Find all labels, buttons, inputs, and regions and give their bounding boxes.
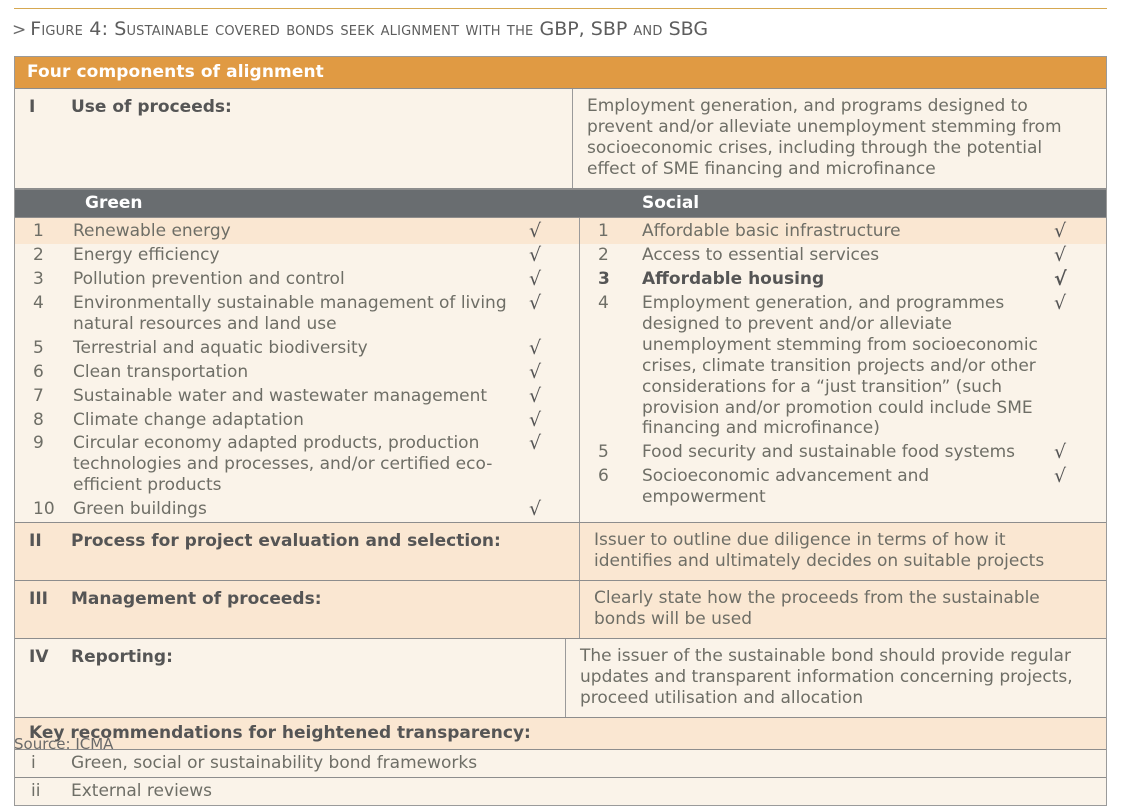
list-item-label: Access to essential services (642, 245, 1048, 266)
list-item-label: Climate change adaptation (73, 410, 529, 431)
figure-page: >Figure 4:Sustainable covered bonds seek… (0, 0, 1127, 762)
list-item: 2Energy efficiency√ (15, 244, 579, 268)
list-item-number: 2 (15, 245, 73, 266)
list-item-label: Terrestrial and aquatic biodiversity (73, 338, 529, 359)
checkmark-icon: √ (1048, 221, 1100, 242)
list-item: 7Sustainable water and wastewater manage… (15, 385, 579, 409)
list-item-label: Food security and sustainable food syste… (642, 442, 1048, 463)
list-item: 9Circular economy adapted products, prod… (15, 432, 579, 498)
list-item-label: Energy efficiency (73, 245, 529, 266)
checkmark-icon: √ (529, 269, 569, 290)
list-item-label: Clean transportation (73, 362, 529, 383)
list-item-label: Pollution prevention and control (73, 269, 529, 290)
checkmark-icon: √ (529, 221, 569, 242)
key-recommendation-i-text: Green, social or sustainability bond fra… (71, 753, 1106, 773)
list-item-number: 10 (15, 499, 73, 520)
key-recommendation-item-ii: ii External reviews (15, 778, 1106, 805)
list-item-number: 6 (15, 362, 73, 383)
list-item-label: Socioeconomic advancement and empowermen… (642, 466, 1048, 508)
list-item: 6Clean transportation√ (15, 361, 579, 385)
list-item: 3Pollution prevention and control√ (15, 268, 579, 292)
category-header-social: Social (580, 190, 1106, 217)
list-item-number: 3 (580, 269, 642, 290)
list-item-number: 6 (580, 466, 642, 487)
social-items-column: 1Affordable basic infrastructure√2Access… (580, 218, 1106, 523)
list-item-label: Affordable housing (642, 269, 1048, 290)
figure-caption: >Figure 4:Sustainable covered bonds seek… (12, 18, 1112, 40)
list-item: 4Employment generation, and programmes d… (580, 292, 1106, 442)
section-II-left: II Process for project evaluation and se… (15, 523, 580, 580)
key-recommendation-ii-text: External reviews (71, 781, 1106, 801)
section-I-right: Employment generation, and programs desi… (573, 89, 1106, 188)
section-III-left: III Management of proceeds: (15, 581, 580, 638)
table-row-section-IV: IV Reporting: The issuer of the sustaina… (15, 639, 1106, 717)
list-item-number: 7 (15, 386, 73, 407)
checkmark-icon: √ (529, 433, 569, 454)
list-item: 4Environmentally sustainable management … (15, 292, 579, 337)
key-recommendation-item-i: i Green, social or sustainability bond f… (15, 750, 1106, 778)
list-item: 8Climate change adaptation√ (15, 409, 579, 433)
section-IV-right: The issuer of the sustainable bond shoul… (566, 639, 1106, 717)
table-row-section-III: III Management of proceeds: Clearly stat… (15, 581, 1106, 639)
list-item-label: Employment generation, and programmes de… (642, 293, 1048, 440)
list-item-number: 1 (15, 221, 73, 242)
category-items-row: 1Renewable energy√2Energy efficiency√3Po… (15, 218, 1106, 524)
checkmark-icon: √ (529, 499, 569, 520)
section-II-description: Issuer to outline due diligence in terms… (580, 523, 1103, 580)
top-divider-rule (14, 8, 1107, 9)
list-item: 5Terrestrial and aquatic biodiversity√ (15, 337, 579, 361)
list-item: 6Socioeconomic advancement and empowerme… (580, 465, 1106, 510)
category-header-row: Green Social (15, 189, 1106, 218)
section-IV-description: The issuer of the sustainable bond shoul… (566, 639, 1106, 717)
category-header-green: Green (15, 190, 580, 217)
section-IV-left: IV Reporting: (15, 639, 566, 717)
source-note: Source: ICMA (14, 735, 113, 753)
list-item: 1Affordable basic infrastructure√ (580, 218, 1106, 244)
table-row-section-II: II Process for project evaluation and se… (15, 523, 1106, 581)
section-I-description: Employment generation, and programs desi… (573, 89, 1106, 188)
section-II-numeral: II (15, 531, 71, 572)
table-header-bar: Four components of alignment (15, 57, 1106, 89)
table-row-section-I: I Use of proceeds: Employment generation… (15, 89, 1106, 189)
checkmark-icon: √ (529, 245, 569, 266)
caption-acronyms: GBP, SBP (539, 18, 627, 40)
section-III-title: Management of proceeds: (71, 589, 322, 630)
section-II-title: Process for project evaluation and selec… (71, 531, 501, 572)
list-item: 5Food security and sustainable food syst… (580, 441, 1106, 465)
caption-prefix: Figure 4: (30, 18, 108, 40)
list-item-number: 4 (580, 293, 642, 314)
list-item: 10Green buildings√ (15, 498, 579, 522)
checkmark-icon: √ (1048, 245, 1100, 266)
checkmark-icon: √ (1048, 442, 1100, 463)
section-III-numeral: III (15, 589, 71, 630)
list-item: 3Affordable housing√ (580, 268, 1106, 292)
caption-acronym-sbg: SBG (669, 18, 708, 40)
list-item-label: Affordable basic infrastructure (642, 221, 1048, 242)
checkmark-icon: √ (1048, 293, 1100, 314)
list-item-number: 2 (580, 245, 642, 266)
section-I-numeral: I (15, 97, 71, 180)
list-item: 1Renewable energy√ (15, 218, 579, 244)
list-item-label: Environmentally sustainable management o… (73, 293, 529, 335)
section-II-right: Issuer to outline due diligence in terms… (580, 523, 1106, 580)
list-item-label: Green buildings (73, 499, 529, 520)
list-item-label: Sustainable water and wastewater managem… (73, 386, 529, 407)
list-item-label: Circular economy adapted products, produ… (73, 433, 529, 496)
section-I-left: I Use of proceeds: (15, 89, 573, 188)
checkmark-icon: √ (1048, 466, 1100, 487)
section-IV-title: Reporting: (71, 647, 173, 709)
checkmark-icon: √ (1048, 269, 1100, 290)
checkmark-icon: √ (529, 410, 569, 431)
caption-conjunction: and (633, 18, 662, 40)
checkmark-icon: √ (529, 338, 569, 359)
checkmark-icon: √ (529, 362, 569, 383)
list-item: 2Access to essential services√ (580, 244, 1106, 268)
caption-body: Sustainable covered bonds seek alignment… (114, 18, 533, 40)
caption-marker: > (12, 20, 26, 40)
list-item-number: 9 (15, 433, 73, 454)
section-III-description: Clearly state how the proceeds from the … (580, 581, 1103, 638)
section-III-right: Clearly state how the proceeds from the … (580, 581, 1106, 638)
checkmark-icon: √ (529, 293, 569, 314)
key-recommendations-header: Key recommendations for heightened trans… (15, 717, 1106, 750)
alignment-table: Four components of alignment I Use of pr… (14, 56, 1107, 806)
key-recommendation-i-numeral: i (15, 753, 71, 773)
list-item-number: 3 (15, 269, 73, 290)
key-recommendation-ii-numeral: ii (15, 781, 71, 801)
list-item-number: 5 (15, 338, 73, 359)
list-item-label: Renewable energy (73, 221, 529, 242)
checkmark-icon: √ (529, 386, 569, 407)
list-item-number: 1 (580, 221, 642, 242)
list-item-number: 5 (580, 442, 642, 463)
section-IV-numeral: IV (15, 647, 71, 709)
list-item-number: 4 (15, 293, 73, 314)
section-I-title: Use of proceeds: (71, 97, 232, 180)
green-items-column: 1Renewable energy√2Energy efficiency√3Po… (15, 218, 580, 523)
list-item-number: 8 (15, 410, 73, 431)
